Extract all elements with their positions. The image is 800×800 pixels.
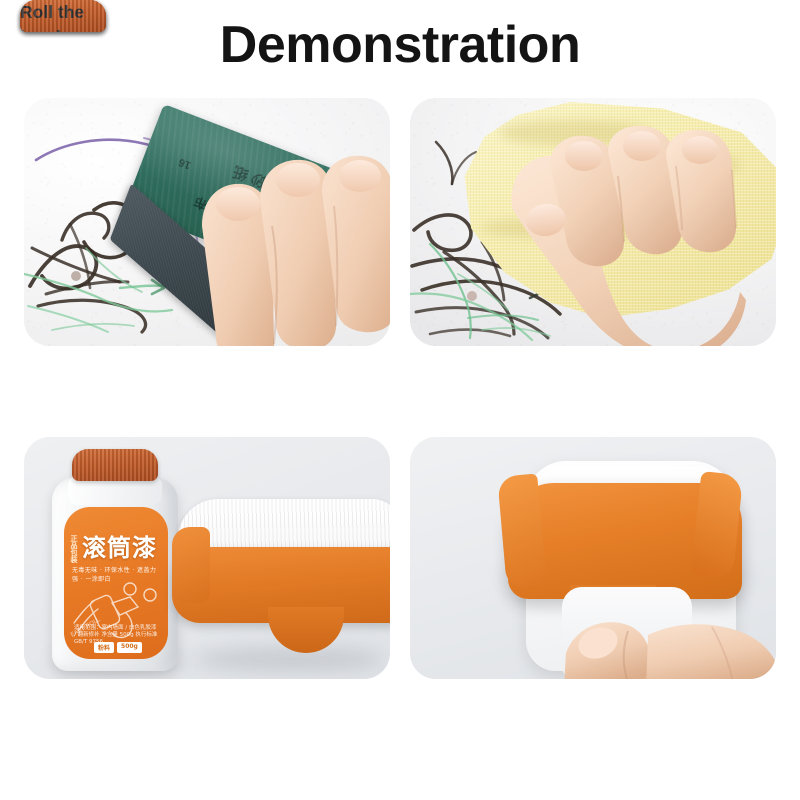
label-main-text: 滚筒漆 (82, 535, 157, 561)
label-tags: 粉料 500g (94, 642, 142, 653)
step-4-image-cell (410, 437, 776, 679)
hand-wiping-cloth (498, 124, 748, 346)
label-tag-weight: 500g (117, 642, 142, 653)
label-tag-type: 粉料 (94, 642, 114, 653)
hand-holding-sanding-block (186, 130, 390, 346)
paint-bottle-and-roller-head-photo: 正品包装 滚筒漆 无毒无味 · 环保水性 · 遮盖力强 · 一涂即白 (24, 437, 390, 679)
label-corner-text: 正品包装 (70, 535, 78, 563)
hand-squeezing-bottle (562, 609, 776, 679)
step-1-image-cell: DETAO S 21 砂 布 砂 纸 16 (24, 98, 390, 346)
bottle-cap (72, 449, 158, 481)
roller-neck (268, 607, 344, 653)
roller-arm (172, 527, 210, 603)
bottle-label: 正品包装 滚筒漆 无毒无味 · 环保水性 · 遮盖力强 · 一涂即白 (64, 507, 168, 659)
step-2-image-cell (410, 98, 776, 346)
demonstration-page: Demonstration (0, 0, 800, 800)
step-3-image-cell: 正品包装 滚筒漆 无毒无味 · 环保水性 · 遮盖力强 · 一涂即白 (24, 437, 390, 679)
step-4-caption: Roll the head down, and squeeze the bott… (20, 0, 106, 32)
roller-brush-head (172, 499, 390, 669)
roller-head-rolling-wall-photo (410, 437, 776, 679)
sanding-block-on-graffiti-wall-photo: DETAO S 21 砂 布 砂 纸 16 (24, 98, 390, 346)
page-title: Demonstration (0, 14, 800, 76)
yellow-cloth-wiping-wall-photo (410, 98, 776, 346)
paint-bottle: 正品包装 滚筒漆 无毒无味 · 环保水性 · 遮盖力强 · 一涂即白 (52, 449, 178, 671)
